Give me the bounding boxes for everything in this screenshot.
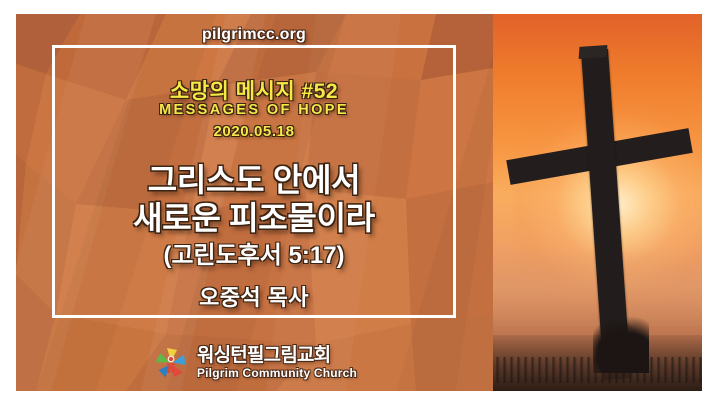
pinwheel-star-people-logo-icon bbox=[152, 344, 190, 382]
speaker-name: 오중석 목사 bbox=[52, 280, 456, 312]
church-name-english: Pilgrim Community Church bbox=[197, 367, 357, 379]
sermon-date: 2020.05.18 bbox=[52, 123, 456, 140]
presentation-slide: pilgrimcc.org 소망의 메시지 #52 MESSAGES OF HO… bbox=[0, 0, 720, 405]
slide-artwork: pilgrimcc.org 소망의 메시지 #52 MESSAGES OF HO… bbox=[16, 14, 702, 391]
church-name-block: 워싱턴필그림교회 Pilgrim Community Church bbox=[197, 346, 357, 379]
cross-icon-top bbox=[579, 45, 608, 59]
sermon-title-line-2: 새로운 피조물이라 bbox=[52, 193, 456, 239]
scripture-reference: (고린도후서 5:17) bbox=[52, 235, 456, 270]
bush-silhouette bbox=[593, 313, 649, 373]
church-name-korean: 워싱턴필그림교회 bbox=[197, 346, 357, 365]
left-orange-panel: pilgrimcc.org 소망의 메시지 #52 MESSAGES OF HO… bbox=[16, 14, 493, 391]
site-url-text: pilgrimcc.org bbox=[52, 26, 456, 44]
series-title-english: MESSAGES OF HOPE bbox=[52, 102, 456, 118]
slide-text-content: pilgrimcc.org 소망의 메시지 #52 MESSAGES OF HO… bbox=[52, 45, 456, 318]
church-logo-block: 워싱턴필그림교회 Pilgrim Community Church bbox=[16, 334, 493, 391]
cross-sunset-photo bbox=[493, 14, 702, 391]
series-title-korean: 소망의 메시지 #52 bbox=[52, 75, 456, 105]
